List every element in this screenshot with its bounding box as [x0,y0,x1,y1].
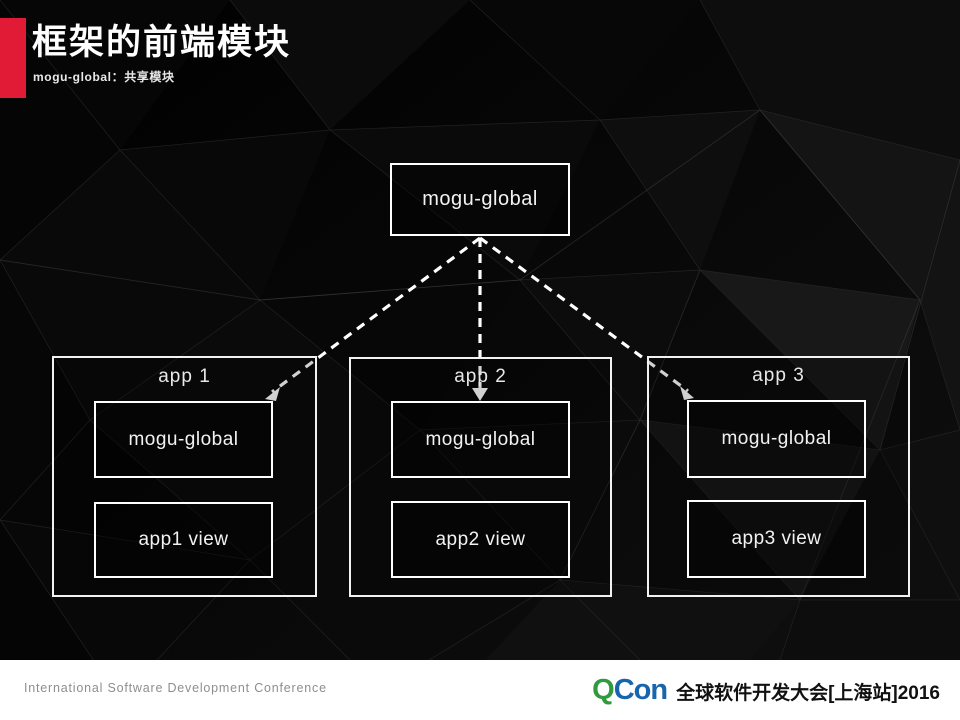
slide-footer: International Software Development Confe… [0,660,960,720]
qcon-logo-q: Q [592,674,614,707]
node-app3-mogu-global[interactable]: mogu-global [687,400,866,478]
node-mogu-global-root[interactable]: mogu-global [390,163,570,236]
group-app-2-label: app 2 [349,366,612,388]
group-app-1-label: app 1 [52,366,317,388]
node-app1-view[interactable]: app1 view [94,502,273,578]
node-app2-mogu-global[interactable]: mogu-global [391,401,570,478]
footer-tagline: International Software Development Confe… [24,681,327,695]
slide-canvas: 框架的前端模块 mogu-global：共享模块 mogu-global app… [0,0,960,720]
node-app3-view[interactable]: app3 view [687,500,866,578]
node-app1-mogu-global[interactable]: mogu-global [94,401,273,478]
node-app2-view[interactable]: app2 view [391,501,570,578]
qcon-logo-con: Con [614,674,667,707]
qcon-logo-chinese: 全球软件开发大会[上海站]2016 [676,678,940,705]
architecture-diagram: mogu-global app 1 mogu-global app1 view … [0,0,960,660]
qcon-logo: Q Con 全球软件开发大会[上海站]2016 [592,674,940,707]
group-app-3-label: app 3 [647,365,910,387]
